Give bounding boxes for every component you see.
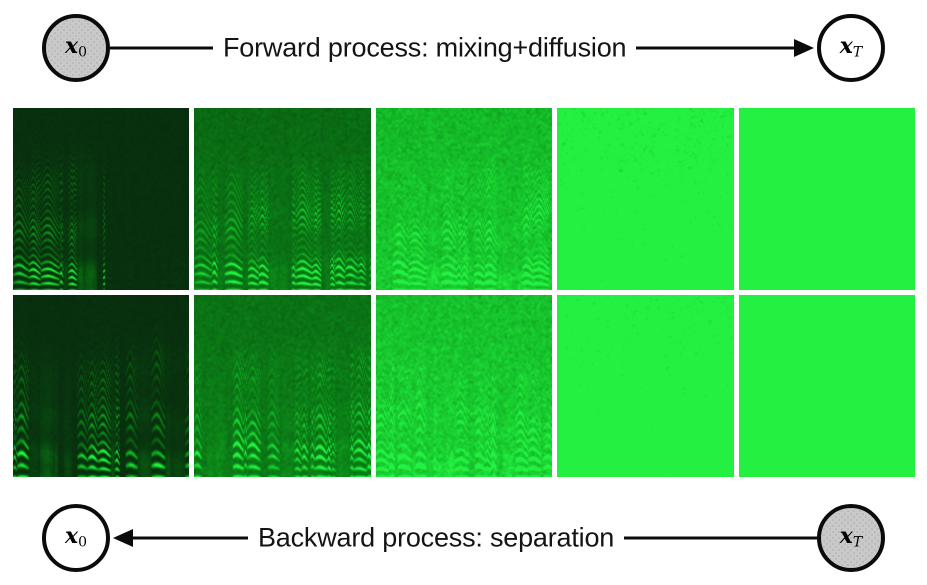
- spec-row1-col1-canvas: [13, 108, 189, 290]
- spec-row1-col1: [13, 108, 189, 290]
- spec-row1-col5: [739, 108, 915, 290]
- backward-process-label: Backward process: separation: [248, 522, 624, 553]
- spec-row2-col2-canvas: [194, 295, 370, 477]
- spec-row2-col4: [557, 295, 733, 477]
- spec-row2-col5-canvas: [739, 295, 915, 477]
- spec-row2-col5: [739, 295, 915, 477]
- spec-row2-col4-canvas: [557, 295, 733, 477]
- spec-row2-col1-canvas: [13, 295, 189, 477]
- spec-row2-col1: [13, 295, 189, 477]
- x0-node-bottom: x0: [42, 504, 110, 572]
- spec-row1-col4-canvas: [557, 108, 733, 290]
- backward-arrowhead-icon: [113, 529, 133, 547]
- forward-process-row: x0 Forward process: mixing+diffusion xT: [0, 0, 927, 95]
- spec-row1-col2: [194, 108, 370, 290]
- spectrogram-grid: [13, 108, 915, 477]
- spec-row2-col3-canvas: [376, 295, 552, 477]
- spec-row1-col4: [557, 108, 733, 290]
- spec-row1-col2-canvas: [194, 108, 370, 290]
- x0-node-bottom-label: x0: [65, 525, 87, 550]
- spec-row2-col3: [376, 295, 552, 477]
- backward-process-row: x0 Backward process: separation xT: [0, 490, 927, 585]
- spec-row1-col3-canvas: [376, 108, 552, 290]
- xT-node-bottom: xT: [817, 504, 885, 572]
- forward-arrowhead-icon: [794, 39, 814, 57]
- diffusion-figure: x0 Forward process: mixing+diffusion xT …: [0, 0, 927, 585]
- forward-process-label: Forward process: mixing+diffusion: [213, 32, 636, 63]
- x0-node-top-label: x0: [65, 35, 87, 60]
- spec-row2-col2: [194, 295, 370, 477]
- spec-row1-col3: [376, 108, 552, 290]
- xT-node-bottom-label: xT: [840, 525, 862, 550]
- x0-node-top: x0: [42, 14, 110, 82]
- xT-node-top: xT: [817, 14, 885, 82]
- xT-node-top-label: xT: [840, 35, 862, 60]
- spec-row1-col5-canvas: [739, 108, 915, 290]
